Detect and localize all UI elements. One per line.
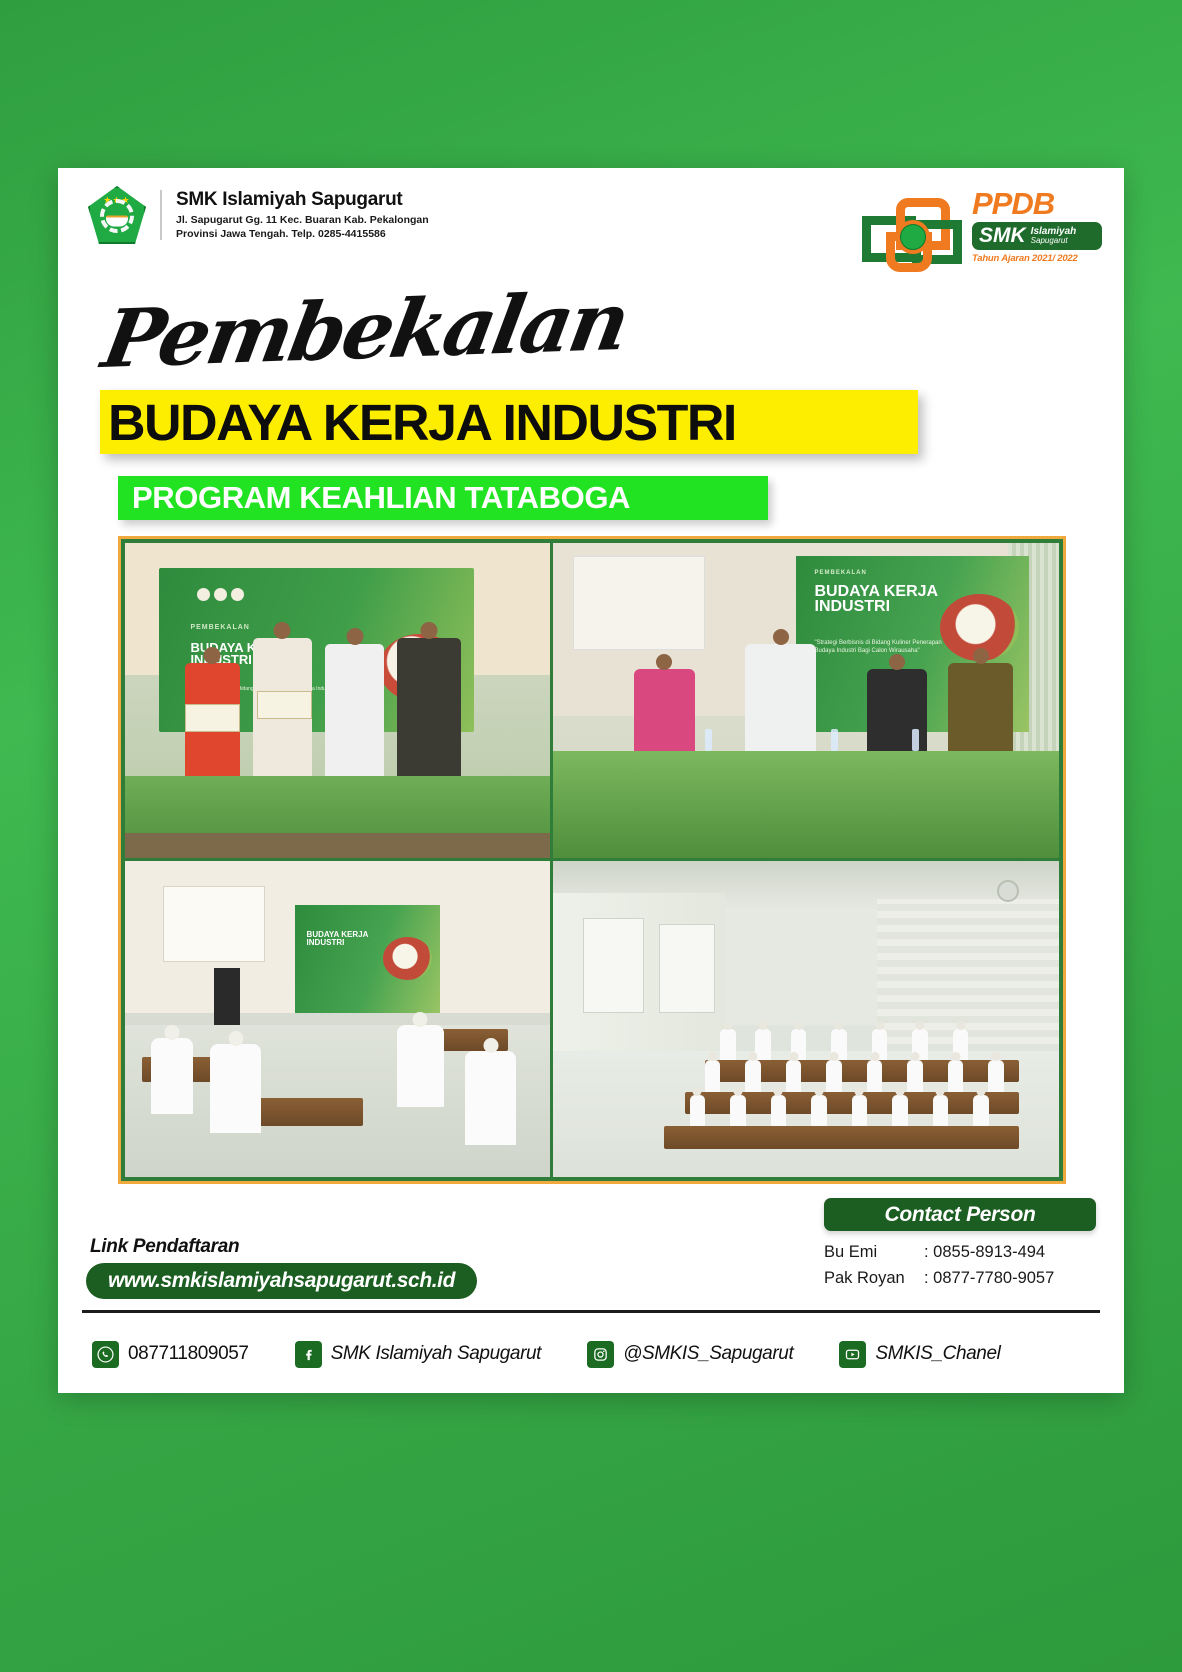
footer-divider <box>82 1310 1100 1313</box>
photo1-banner-kicker: PEMBEKALAN <box>190 624 249 631</box>
instagram-icon <box>587 1341 614 1368</box>
photo-certificate-handover: PEMBEKALAN BUDAYA KERJA INDUSTRI "Strate… <box>125 543 550 858</box>
contact-number: : 0855-8913-494 <box>924 1240 1096 1266</box>
ppdb-logo-icon <box>860 196 970 274</box>
ppdb-sub-line1: Islamiyah <box>1031 227 1077 237</box>
youtube-icon <box>839 1341 866 1368</box>
school-crest-icon: ★★★ <box>88 186 146 244</box>
facebook-icon <box>295 1341 322 1368</box>
social-item-instagram[interactable]: @SMKIS_Sapugarut <box>587 1341 793 1368</box>
contact-row: Bu Emi : 0855-8913-494 <box>824 1240 1096 1266</box>
program-band: PROGRAM KEAHLIAN TATABOGA <box>118 476 768 520</box>
poster-canvas: ★★★ SMK Islamiyah Sapugarut Jl. Sapugaru… <box>58 168 1124 1393</box>
photo2-banner-title2: INDUSTRI <box>815 598 891 615</box>
program-title: PROGRAM KEAHLIAN TATABOGA <box>118 480 630 516</box>
photo-collage: PEMBEKALAN BUDAYA KERJA INDUSTRI "Strate… <box>118 536 1066 1184</box>
registration-url[interactable]: www.smkislamiyahsapugarut.sch.id <box>108 1269 455 1292</box>
ppdb-smk-label: SMK <box>979 225 1026 246</box>
ppdb-badge: PPDB SMK Islamiyah Sapugarut Tahun Ajara… <box>860 182 1100 282</box>
photo-speaker-presentation: PEMBEKALAN BUDAYA KERJA INDUSTRI "Strate… <box>553 543 1059 858</box>
school-address-line1: Jl. Sapugarut Gg. 11 Kec. Buaran Kab. Pe… <box>176 213 429 227</box>
social-bar: 087711809057 SMK Islamiyah Sapugarut @SM… <box>82 1328 1100 1380</box>
registration-link-block: Link Pendaftaran www.smkislamiyahsapugar… <box>86 1236 477 1299</box>
script-title: Pembekalan <box>97 281 633 379</box>
school-header: ★★★ SMK Islamiyah Sapugarut Jl. Sapugaru… <box>88 186 429 244</box>
photo-students-seminar-room: BUDAYA KERJA INDUSTRI <box>125 861 550 1177</box>
photo-classroom-audience <box>553 861 1059 1177</box>
registration-url-pill[interactable]: www.smkislamiyahsapugarut.sch.id <box>86 1263 477 1299</box>
contact-number: : 0877-7780-9057 <box>924 1266 1096 1292</box>
photo2-banner-kicker: PEMBEKALAN <box>815 570 867 576</box>
social-item-facebook[interactable]: SMK Islamiyah Sapugarut <box>295 1341 541 1368</box>
ppdb-sub-line2: Sapugarut <box>1031 237 1077 245</box>
contact-name: Bu Emi <box>824 1240 924 1266</box>
photo3-banner-title2: INDUSTRI <box>307 938 345 947</box>
main-title: BUDAYA KERJA INDUSTRI <box>94 393 736 452</box>
social-label-youtube: SMKIS_Chanel <box>875 1343 1000 1365</box>
school-identity: SMK Islamiyah Sapugarut Jl. Sapugarut Gg… <box>176 189 429 241</box>
photo2-banner-quote: "Strategi Berbisnis di Bidang Kuliner Pe… <box>815 640 943 656</box>
ppdb-school-pill: SMK Islamiyah Sapugarut <box>972 222 1102 250</box>
contact-name: Pak Royan <box>824 1266 924 1292</box>
contact-row: Pak Royan : 0877-7780-9057 <box>824 1266 1096 1292</box>
header-divider <box>160 190 162 240</box>
contact-person-list: Bu Emi : 0855-8913-494 Pak Royan : 0877-… <box>824 1240 1096 1291</box>
main-title-band: BUDAYA KERJA INDUSTRI <box>100 390 918 454</box>
ppdb-title: PPDB <box>972 188 1102 219</box>
whatsapp-icon <box>92 1341 119 1368</box>
ppdb-academic-year: Tahun Ajaran 2021/ 2022 <box>972 253 1102 264</box>
social-label-whatsapp: 087711809057 <box>128 1343 249 1365</box>
school-name: SMK Islamiyah Sapugarut <box>176 189 429 211</box>
social-item-whatsapp[interactable]: 087711809057 <box>92 1341 249 1368</box>
social-label-facebook: SMK Islamiyah Sapugarut <box>331 1343 541 1365</box>
social-label-instagram: @SMKIS_Sapugarut <box>623 1343 793 1365</box>
contact-person-heading: Contact Person <box>824 1198 1096 1231</box>
social-item-youtube[interactable]: SMKIS_Chanel <box>839 1341 1000 1368</box>
school-address-line2: Provinsi Jawa Tengah. Telp. 0285-4415586 <box>176 227 429 241</box>
contact-person-label: Contact Person <box>885 1203 1036 1227</box>
registration-label: Link Pendaftaran <box>86 1236 477 1258</box>
